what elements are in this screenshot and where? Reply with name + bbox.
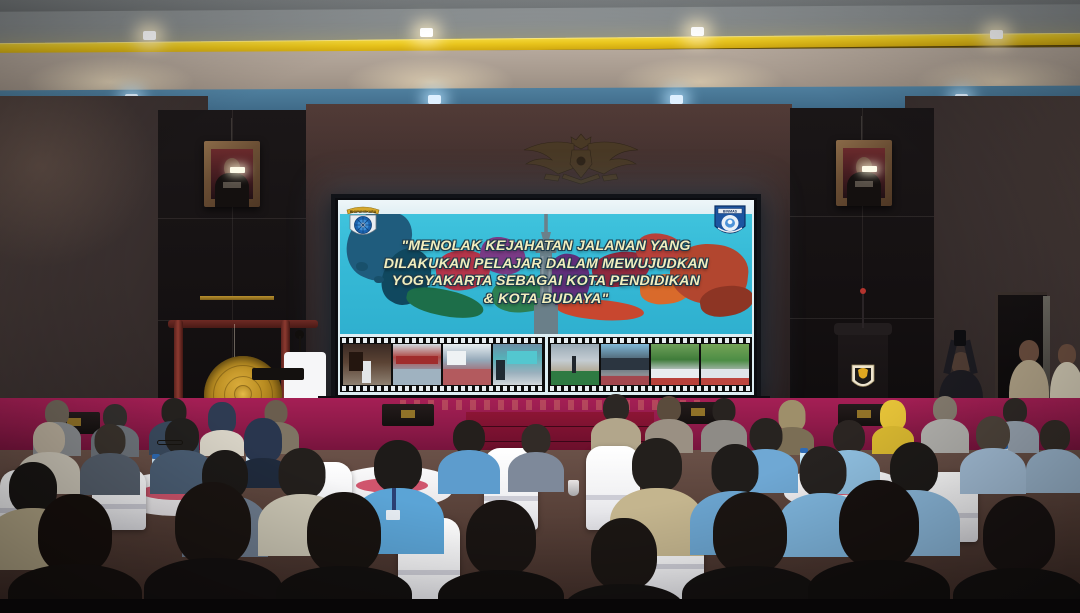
person-head	[466, 500, 536, 576]
film-sprockets	[550, 338, 751, 343]
image-bottom-letterbox	[0, 599, 1080, 613]
vice-president-portrait	[836, 140, 892, 206]
person-head	[522, 424, 551, 455]
person-attendee	[152, 482, 274, 613]
person-head	[713, 492, 787, 574]
ceiling-downlight-warm	[990, 30, 1003, 39]
camera-phone	[954, 330, 966, 346]
person-head	[983, 496, 1055, 574]
filmstrip-frame[interactable]	[493, 344, 541, 385]
ceiling-downlight-cool	[428, 95, 441, 104]
president-portrait	[204, 141, 260, 207]
gong-beam	[168, 320, 318, 328]
keyboard-instrument	[252, 368, 304, 380]
polri-logo: BHAYANGKARA	[344, 203, 382, 243]
person-head	[165, 418, 199, 454]
person-attendee	[440, 420, 498, 484]
garuda-pancasila-emblem	[516, 124, 646, 186]
svg-text:BINMAS: BINMAS	[723, 210, 738, 214]
person-attendee	[284, 492, 404, 613]
person-torso	[438, 450, 500, 494]
person-head	[591, 518, 657, 590]
person-attendee	[510, 424, 562, 484]
film-sprockets	[342, 386, 543, 391]
portrait-suit	[215, 173, 249, 207]
police-emblem	[850, 362, 876, 394]
person-head	[976, 416, 1010, 452]
podium-flag-finial	[860, 288, 866, 294]
person-attendee	[82, 424, 138, 486]
ceiling-downlight-warm	[420, 28, 433, 37]
person-torso	[1026, 449, 1080, 493]
svg-text:BHAYANGKARA: BHAYANGKARA	[350, 210, 377, 214]
ceiling-downlight-warm	[143, 31, 156, 40]
person-attendee	[690, 492, 810, 613]
filmstrip-frame[interactable]	[551, 344, 599, 385]
portrait-image	[843, 148, 885, 198]
photo-filmstrip	[340, 337, 752, 392]
film-sprockets	[342, 338, 543, 343]
person-torso	[80, 453, 140, 495]
binmas-shield-logo: BINMAS	[712, 202, 748, 242]
filmstrip-frame[interactable]	[343, 344, 391, 385]
person-attendee	[960, 496, 1078, 613]
gong-rope	[234, 324, 235, 358]
ceiling-downlight-cool	[670, 95, 683, 104]
filmstrip-frame[interactable]	[701, 344, 749, 385]
wall-gold-trim	[200, 296, 274, 300]
portrait-glare	[230, 167, 245, 173]
person-attendee	[816, 480, 942, 613]
filmstrip-left	[340, 337, 545, 392]
drinking-glass	[568, 480, 579, 496]
filmstrip-right	[548, 337, 753, 392]
eyeglasses	[157, 440, 183, 445]
person-torso	[508, 452, 564, 492]
slide-title: "MENOLAK KEJAHATAN JALANAN YANG DILAKUKA…	[344, 238, 748, 308]
person-attendee	[16, 494, 134, 613]
person-attendee	[446, 500, 556, 613]
portrait-glare	[862, 166, 877, 172]
person-head	[38, 494, 112, 574]
person-head	[307, 492, 381, 574]
podium-flag-pole	[862, 292, 864, 328]
portrait-nameplate	[223, 182, 241, 188]
person-head	[839, 480, 919, 568]
slide-content: BHAYANGKARA BINMAS	[338, 200, 754, 395]
ceiling-downlight-warm	[691, 27, 704, 36]
person-attendee	[1028, 420, 1080, 484]
filmstrip-frame[interactable]	[393, 344, 441, 385]
portrait-image	[211, 149, 253, 199]
filmstrip-frame[interactable]	[651, 344, 699, 385]
person-head	[453, 420, 485, 454]
speaker-badge	[857, 410, 871, 418]
person-head	[632, 438, 682, 492]
person-head	[33, 422, 65, 456]
speaker-badge	[401, 410, 415, 418]
film-sprockets	[550, 386, 751, 391]
floor-speaker	[382, 404, 434, 426]
seminar-hall-photo: BHAYANGKARA BINMAS	[0, 0, 1080, 613]
person-attendee	[962, 416, 1024, 484]
filmstrip-frame[interactable]	[601, 344, 649, 385]
person-head	[374, 440, 422, 492]
person-head	[1040, 420, 1070, 452]
person-head	[712, 444, 759, 495]
portrait-nameplate	[855, 181, 873, 187]
person-head	[175, 482, 251, 566]
filmstrip-frame[interactable]	[443, 344, 491, 385]
person-torso	[960, 448, 1026, 494]
portrait-suit	[847, 172, 881, 206]
